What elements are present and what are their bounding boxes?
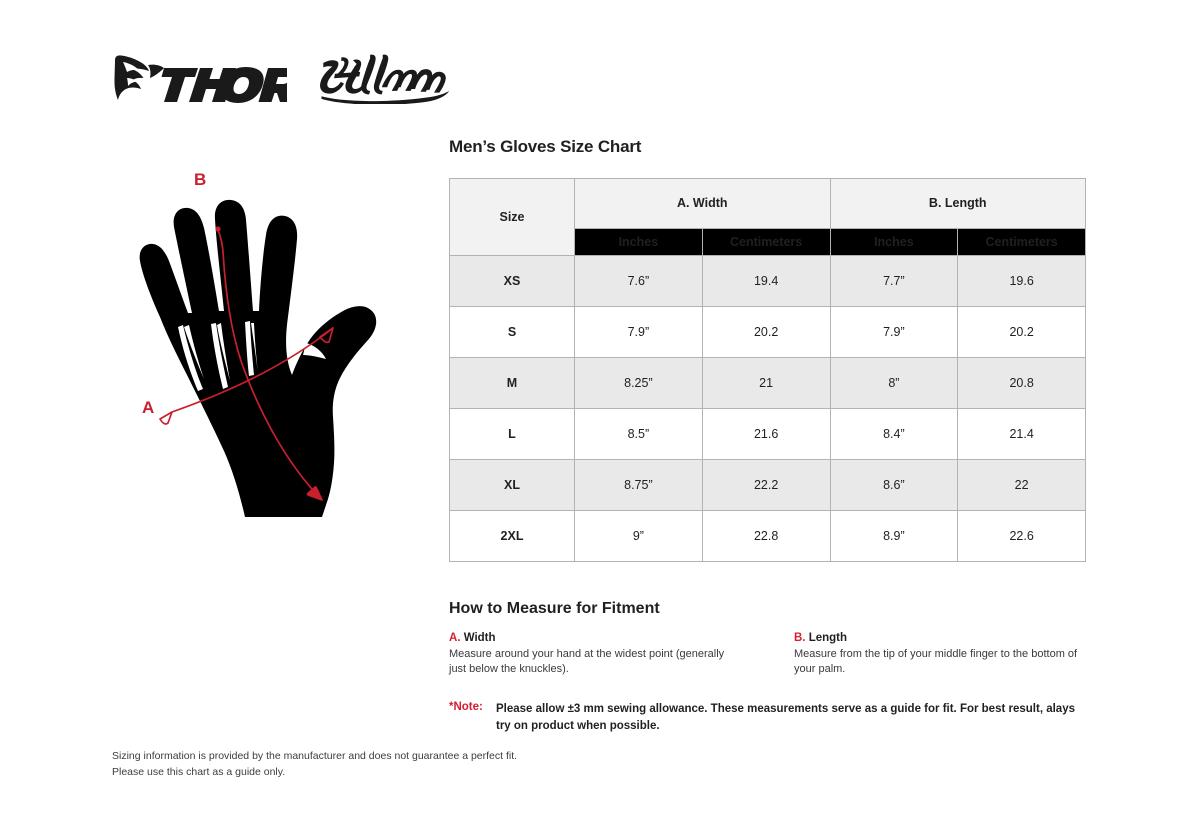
cell-width-cm: 22.8 (702, 510, 830, 561)
measure-letter-b: B. (794, 632, 806, 644)
header-length-inches: Inches (830, 228, 958, 255)
brand-logo-bar (112, 50, 532, 112)
cell-width-in: 7.6” (575, 255, 703, 306)
cell-length-cm: 20.8 (958, 357, 1086, 408)
measure-name-length: Length (806, 632, 848, 644)
cell-size: L (450, 408, 575, 459)
cell-size: XS (450, 255, 575, 306)
cell-length-cm: 20.2 (958, 306, 1086, 357)
thor-logo (112, 54, 287, 106)
cell-width-in: 7.9” (575, 306, 703, 357)
note-block: *Note: Please allow ±3 mm sewing allowan… (449, 701, 1089, 734)
cell-length-cm: 19.6 (958, 255, 1086, 306)
cell-width-cm: 21.6 (702, 408, 830, 459)
measure-name-width: Width (461, 632, 496, 644)
cell-length-cm: 21.4 (958, 408, 1086, 459)
table-row: XL 8.75” 22.2 8.6” 22 (450, 459, 1086, 510)
cell-length-in: 8.4” (830, 408, 958, 459)
hallman-logo (317, 52, 452, 104)
size-chart-table: Size A. Width B. Length Inches Centimete… (449, 178, 1086, 562)
cell-width-in: 8.75” (575, 459, 703, 510)
table-row: M 8.25” 21 8” 20.8 (450, 357, 1086, 408)
header-group-length: B. Length (830, 178, 1086, 228)
table-row: S 7.9” 20.2 7.9” 20.2 (450, 306, 1086, 357)
measure-description-length: Measure from the tip of your middle fing… (794, 647, 1089, 677)
cell-length-in: 8.6” (830, 459, 958, 510)
marker-a-label: A (142, 398, 154, 417)
cell-size: S (450, 306, 575, 357)
cell-width-in: 8.25” (575, 357, 703, 408)
table-row: L 8.5” 21.6 8.4” 21.4 (450, 408, 1086, 459)
cell-size: 2XL (450, 510, 575, 561)
cell-size: M (450, 357, 575, 408)
disclaimer-line-1: Sizing information is provided by the ma… (112, 748, 517, 764)
header-width-centimeters: Centimeters (702, 228, 830, 255)
cell-length-in: 8” (830, 357, 958, 408)
cell-length-in: 7.9” (830, 306, 958, 357)
cell-width-in: 8.5” (575, 408, 703, 459)
table-row: XS 7.6” 19.4 7.7” 19.6 (450, 255, 1086, 306)
cell-width-in: 9” (575, 510, 703, 561)
cell-width-cm: 19.4 (702, 255, 830, 306)
note-label: *Note: (449, 701, 496, 713)
measure-item-heading: A. Width (449, 632, 744, 644)
cell-length-cm: 22.6 (958, 510, 1086, 561)
measure-description-width: Measure around your hand at the widest p… (449, 647, 744, 677)
cell-width-cm: 20.2 (702, 306, 830, 357)
measure-item-width: A. Width Measure around your hand at the… (449, 632, 744, 677)
note-text: Please allow ±3 mm sewing allowance. The… (496, 701, 1086, 734)
table-body: XS 7.6” 19.4 7.7” 19.6 S 7.9” 20.2 7.9” … (450, 255, 1086, 561)
disclaimer-line-2: Please use this chart as a guide only. (112, 764, 517, 780)
cell-width-cm: 21 (702, 357, 830, 408)
hand-silhouette (140, 200, 377, 517)
how-to-measure-section: How to Measure for Fitment A. Width Meas… (449, 600, 1089, 677)
length-anchor-dot (215, 226, 220, 231)
how-to-measure-columns: A. Width Measure around your hand at the… (449, 632, 1089, 677)
measure-item-length: B. Length Measure from the tip of your m… (794, 632, 1089, 677)
table-head-row-groups: Size A. Width B. Length (450, 178, 1086, 228)
header-width-inches: Inches (575, 228, 703, 255)
cell-length-cm: 22 (958, 459, 1086, 510)
header-size: Size (450, 178, 575, 255)
disclaimer-block: Sizing information is provided by the ma… (112, 748, 517, 781)
measure-letter-a: A. (449, 632, 461, 644)
header-group-width: A. Width (575, 178, 831, 228)
cell-size: XL (450, 459, 575, 510)
how-to-measure-title: How to Measure for Fitment (449, 600, 1089, 618)
table-row: 2XL 9” 22.8 8.9” 22.6 (450, 510, 1086, 561)
cell-length-in: 7.7” (830, 255, 958, 306)
cell-length-in: 8.9” (830, 510, 958, 561)
header-length-centimeters: Centimeters (958, 228, 1086, 255)
table-head: Size A. Width B. Length Inches Centimete… (450, 178, 1086, 255)
page-title: Men’s Gloves Size Chart (449, 138, 1089, 157)
hand-measurement-diagram: B A (120, 165, 430, 540)
measure-item-heading: B. Length (794, 632, 1089, 644)
marker-b-label: B (194, 170, 206, 189)
cell-width-cm: 22.2 (702, 459, 830, 510)
content-column: Men’s Gloves Size Chart Size A. Width B.… (449, 138, 1089, 734)
